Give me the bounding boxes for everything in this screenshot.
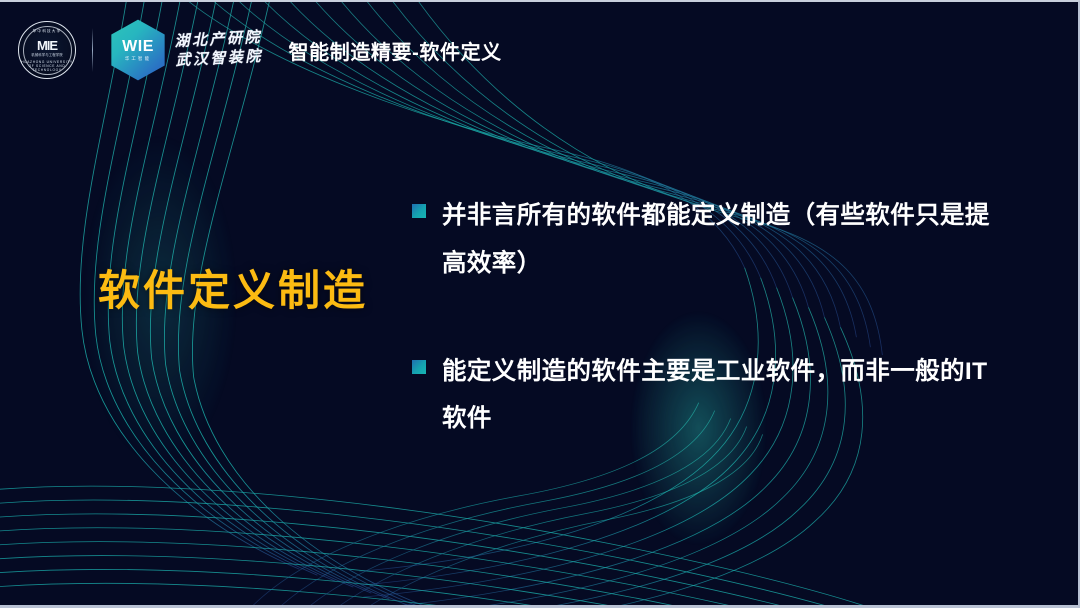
bullet-text: 能定义制造的软件主要是工业软件，而非一般的IT软件 [442, 348, 992, 444]
header-divider [92, 28, 93, 72]
list-item: 并非言所有的软件都能定义制造（有些软件只是提高效率） [412, 192, 992, 288]
university-seal-logo: 华中科技大学 MIE 机械科学与工程学院 HUAZHONG UNIVERSITY… [18, 21, 76, 79]
seal-subtitle: 机械科学与工程学院 [19, 53, 75, 57]
seal-arc-top-text: 华中科技大学 [19, 29, 75, 34]
bullet-text: 并非言所有的软件都能定义制造（有些软件只是提高效率） [442, 192, 992, 288]
wie-wordmark: WIE [107, 39, 169, 55]
calligraphy-line-2: 武汉智装院 [175, 49, 263, 71]
institute-calligraphy: 湖北产研院 武汉智装院 [174, 29, 263, 70]
square-bullet-icon [412, 204, 426, 218]
wie-wordmark-subtitle: 华工智能 [107, 57, 169, 61]
square-bullet-icon [412, 360, 426, 374]
seal-monogram: MIE [19, 39, 75, 52]
page-title: 智能制造精要-软件定义 [289, 36, 502, 65]
bullet-list: 并非言所有的软件都能定义制造（有些软件只是提高效率） 能定义制造的软件主要是工业… [412, 192, 992, 503]
presentation-slide: 华中科技大学 MIE 机械科学与工程学院 HUAZHONG UNIVERSITY… [0, 0, 1080, 608]
calligraphy-line-1: 湖北产研院 [174, 29, 262, 51]
wie-hexagon-logo: WIE 华工智能 [107, 19, 169, 81]
slide-header: 华中科技大学 MIE 机械科学与工程学院 HUAZHONG UNIVERSITY… [0, 2, 502, 98]
section-heading: 软件定义制造 [98, 270, 368, 312]
seal-arc-bottom-text: HUAZHONG UNIVERSITY OF SCIENCE AND TECHN… [19, 60, 75, 72]
list-item: 能定义制造的软件主要是工业软件，而非一般的IT软件 [412, 348, 992, 444]
